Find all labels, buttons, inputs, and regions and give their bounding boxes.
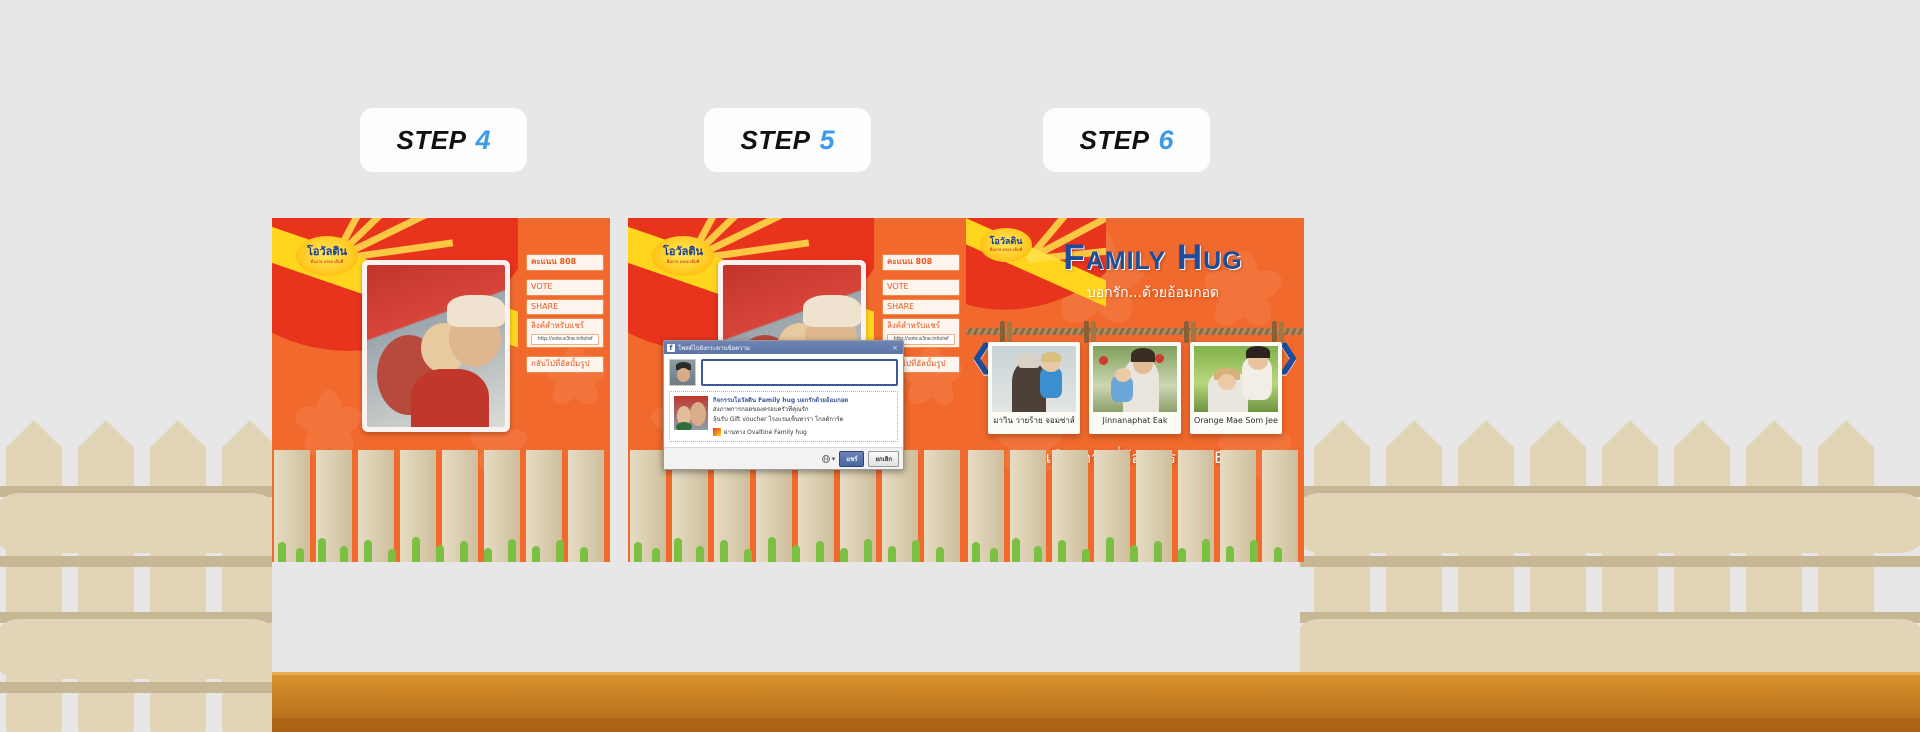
poster-fence: [966, 450, 1304, 562]
ovaltine-logo-subtext: ดื่มง่าย อร่อย เต็มที่: [667, 259, 700, 265]
score-row: คะแนน 808: [526, 254, 604, 271]
poster-step-4[interactable]: โอวัลติน ดื่มง่าย อร่อย เต็มที่ คะแนน 80…: [272, 218, 610, 562]
score-row: คะแนน 808: [882, 254, 960, 271]
clothesline: [966, 328, 1304, 335]
gallery-photo-3[interactable]: Orange Mae Som Jeed: [1190, 342, 1282, 434]
close-icon[interactable]: ×: [892, 344, 900, 352]
step-label: STEP: [741, 125, 811, 156]
share-button[interactable]: SHARE: [526, 299, 604, 316]
attachment-via-label: ผ่านทาง Ovaltine Family hug: [724, 427, 807, 437]
ovaltine-logo: โอวัลติน ดื่มง่าย อร่อย เต็มที่: [296, 236, 358, 276]
link-attachment: กิจกรรมโอวัลติน Family hug บอกรักด้วยอ้อ…: [669, 391, 898, 442]
poster-fence: [272, 450, 610, 562]
shelf-edge: [272, 718, 1920, 732]
poster-step-6[interactable]: โอวัลติน ดื่มง่าย อร่อย เต็มที่ Family H…: [966, 218, 1304, 562]
message-input[interactable]: [701, 359, 898, 386]
dialog-title: โพสต์ไปยังกระดานข้อความ: [678, 343, 889, 353]
family-hug-subtitle: บอกรัก...ด้วยอ้อมกอด: [1028, 282, 1278, 304]
share-link-label: ลิงค์สำหรับแชร์: [531, 321, 599, 332]
gallery-photo-2[interactable]: Jinnanaphat Eak: [1089, 342, 1181, 434]
back-to-album-link[interactable]: กลับไปที่อัลบั้มรูป: [526, 356, 604, 373]
ovaltine-logo-text: โอวัลติน: [663, 247, 703, 258]
cancel-button[interactable]: ยกเลิก: [868, 451, 899, 467]
uploaded-photo[interactable]: [362, 260, 510, 432]
grass-strip: [272, 534, 610, 562]
wooden-shelf: [272, 672, 1920, 732]
ovaltine-logo-subtext: ดื่มง่าย อร่อย เต็มที่: [311, 259, 344, 265]
share-button[interactable]: SHARE: [882, 299, 960, 316]
ovaltine-logo: โอวัลติน ดื่มง่าย อร่อย เต็มที่: [652, 236, 714, 276]
share-submit-button[interactable]: แชร์: [839, 451, 864, 467]
step-card-6: STEP 6: [1043, 108, 1210, 172]
share-link-label: ลิงค์สำหรับแชร์: [887, 321, 955, 332]
gallery-photo-1[interactable]: มาวิน วายร้าย จอมซ่าส์: [988, 342, 1080, 434]
globe-icon: [822, 455, 830, 463]
ovaltine-logo-text: โอวัลติน: [307, 247, 347, 258]
vote-button[interactable]: VOTE: [882, 279, 960, 296]
facebook-share-dialog[interactable]: f โพสต์ไปยังกระดานข้อความ × กิจกรรมโอวัล…: [663, 340, 904, 470]
attachment-line-1: ส่งภาพการกอดของครอบครัวที่คุณรัก: [713, 405, 893, 415]
vote-panel: คะแนน 808 VOTE SHARE ลิงค์สำหรับแชร์ htt…: [526, 254, 604, 376]
step-number: 4: [475, 125, 490, 156]
attachment-line-2: ลุ้นรับ Gift voucher โรงแรมเซ็นทารา โกลด…: [713, 415, 893, 425]
gallery-photo-caption: Orange Mae Som Jeed: [1194, 412, 1278, 429]
dialog-title-bar: f โพสต์ไปยังกระดานข้อความ ×: [664, 341, 903, 354]
privacy-selector[interactable]: ▾: [822, 455, 836, 463]
background-fence-left: [0, 360, 272, 732]
attachment-thumbnail: [674, 396, 708, 430]
grass-strip: [628, 534, 966, 562]
privacy-caret-icon: ▾: [832, 455, 836, 463]
dialog-footer: ▾ แชร์ ยกเลิก: [664, 447, 903, 469]
ovaltine-logo-text: โอวัลติน: [990, 237, 1023, 246]
gallery-photo-caption: มาวิน วายร้าย จอมซ่าส์: [992, 412, 1076, 429]
step-label: STEP: [397, 125, 467, 156]
step-card-5: STEP 5: [704, 108, 871, 172]
attachment-headline[interactable]: กิจกรรมโอวัลติน Family hug บอกรักด้วยอ้อ…: [713, 396, 893, 405]
vote-button[interactable]: VOTE: [526, 279, 604, 296]
attachment-via: ผ่านทาง Ovaltine Family hug: [713, 427, 893, 437]
step-label: STEP: [1080, 125, 1150, 156]
avatar: [669, 359, 696, 386]
step-number: 5: [819, 125, 834, 156]
ovaltine-app-icon: [713, 428, 721, 436]
grass-strip: [966, 534, 1304, 562]
dialog-body: กิจกรรมโอวัลติน Family hug บอกรักด้วยอ้อ…: [664, 354, 903, 447]
share-link-row: ลิงค์สำหรับแชร์ http://vote.e3ne.info/re…: [526, 318, 604, 348]
family-hug-title: Family Hug: [1028, 240, 1278, 275]
ovaltine-logo: โอวัลติน ดื่มง่าย อร่อย เต็มที่: [980, 228, 1032, 262]
facebook-icon: f: [667, 344, 675, 352]
gallery-photo-caption: Jinnanaphat Eak: [1093, 412, 1177, 429]
step-number: 6: [1158, 125, 1173, 156]
share-url-field[interactable]: http://vote.e3ne.info/ref: [531, 334, 599, 345]
ovaltine-logo-subtext: ดื่มง่าย อร่อย เต็มที่: [990, 247, 1023, 253]
step-card-4: STEP 4: [360, 108, 527, 172]
